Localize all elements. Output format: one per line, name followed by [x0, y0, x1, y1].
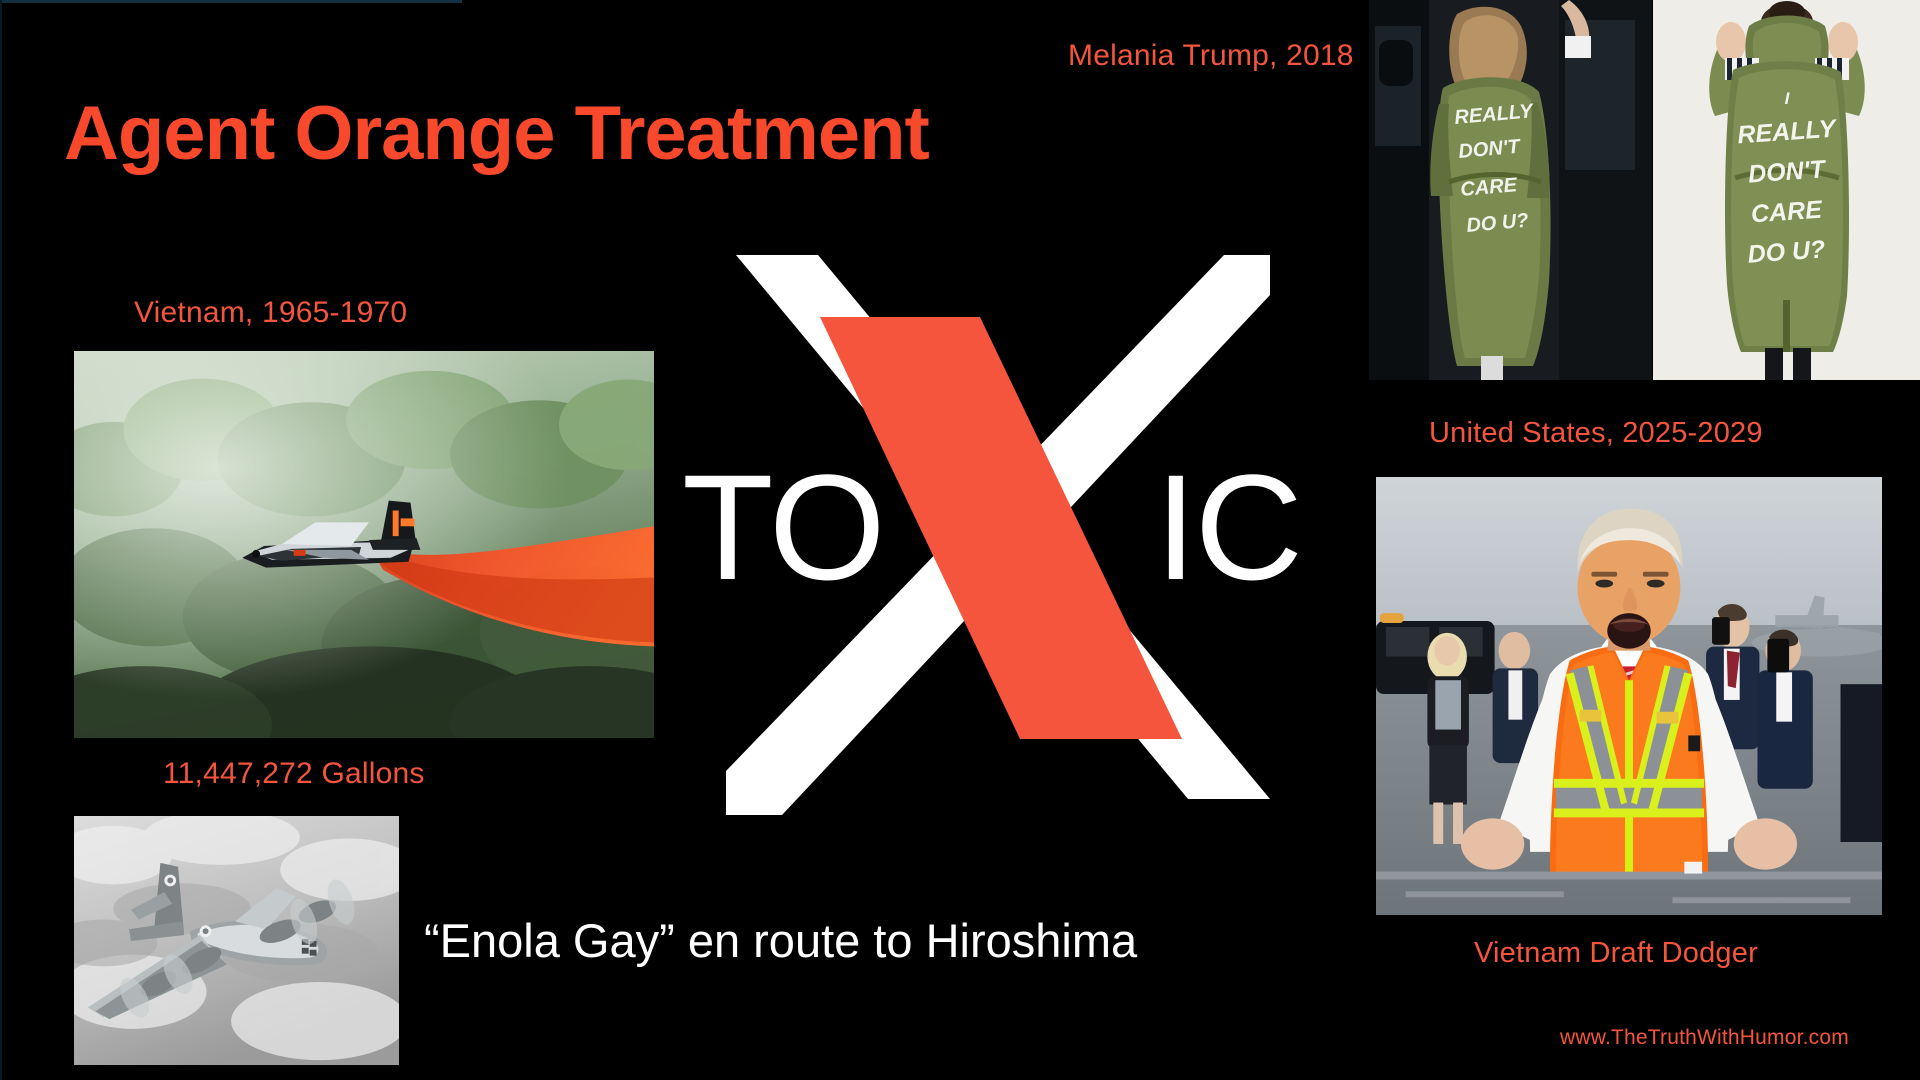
photo-melania-jacket-catalog: I REALLY DON'T CARE DO U? — [1653, 0, 1920, 380]
photo-trump-safety-vest — [1373, 474, 1885, 918]
caption-draft-dodger: Vietnam Draft Dodger — [1474, 937, 1758, 970]
toxic-letters-left: TO — [682, 452, 884, 602]
website-credit: www.TheTruthWithHumor.com — [1560, 1026, 1849, 1050]
toxic-letters-right: IC — [1155, 452, 1301, 602]
caption-enola-gay: “Enola Gay” en route to Hiroshima — [424, 913, 1137, 968]
caption-vietnam: Vietnam, 1965-1970 — [134, 296, 407, 330]
photo-vietnam-defoliation — [71, 348, 657, 741]
left-edge-seam — [0, 0, 2, 1080]
page-title: Agent Orange Treatment — [64, 90, 929, 177]
meme-canvas: Agent Orange Treatment Melania Trump, 20… — [0, 0, 1920, 1080]
svg-text:DON'T: DON'T — [1747, 155, 1828, 188]
caption-united-states: United States, 2025-2029 — [1429, 417, 1763, 450]
svg-text:CARE: CARE — [1750, 195, 1824, 228]
photo-enola-gay-b29 — [71, 813, 402, 1068]
svg-text:DO U?: DO U? — [1747, 235, 1827, 268]
caption-melania: Melania Trump, 2018 — [1068, 39, 1354, 73]
top-edge-seam — [0, 0, 462, 3]
photo-melania-jacket-car: REALLY DON'T CARE DO U? — [1369, 0, 1652, 380]
caption-gallons: 11,447,272 Gallons — [163, 757, 425, 791]
